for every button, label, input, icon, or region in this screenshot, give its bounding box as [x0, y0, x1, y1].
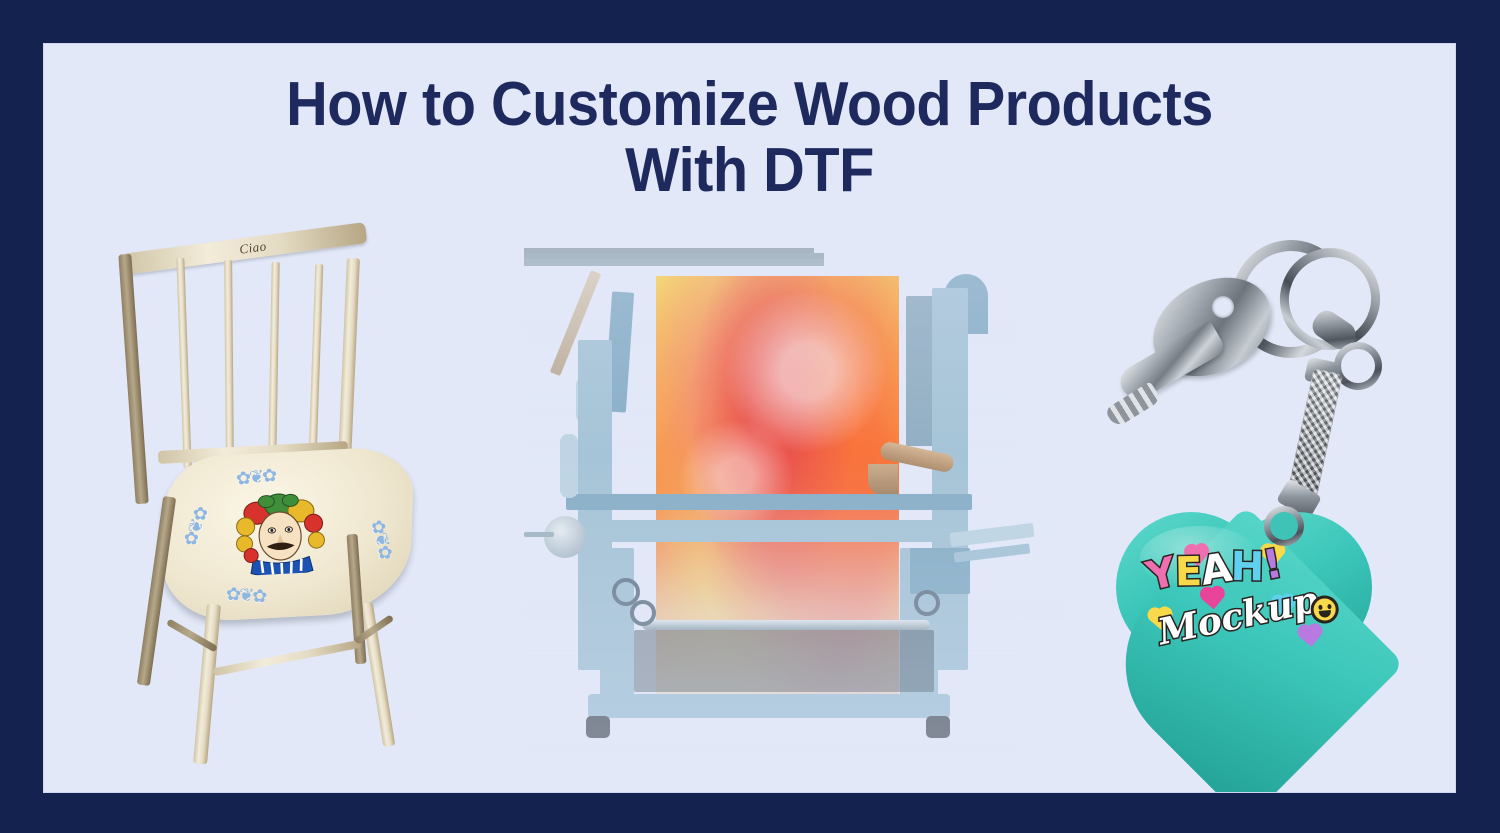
title-line-2: With DTF — [93, 138, 1405, 204]
heart-keychain-image: YEAH! Mockup — [1084, 234, 1444, 754]
mini-heart-icon — [1300, 626, 1321, 647]
imagery-row: Ciao ✿❦✿ ✿❦✿ ✿❦✿ ✿❦✿ — [44, 224, 1455, 784]
press-base — [588, 694, 950, 718]
press-drive-shaft — [524, 532, 554, 537]
heart-tag-artwork: YEAH! Mockup — [1145, 538, 1355, 673]
chair-leg-front-left — [193, 604, 221, 765]
press-leg-left — [600, 548, 634, 708]
press-bed-lower — [584, 520, 962, 542]
press-copper-elbow — [868, 464, 898, 496]
chair-spindle — [268, 262, 279, 458]
chair-back-post-left — [118, 254, 148, 504]
headline-letter-h: H — [1231, 546, 1264, 589]
printing-press-image — [524, 248, 1064, 758]
press-foot-right — [926, 716, 950, 738]
page-title: How to Customize Wood Products With DTF — [44, 72, 1455, 204]
press-tie-bar-low — [524, 259, 824, 266]
chair-spindle — [309, 264, 324, 454]
press-handwheel — [630, 600, 656, 626]
headline-letter-a: A — [1198, 547, 1234, 593]
headline-letter-e: E — [1175, 551, 1202, 593]
heart-shaped-tag: YEAH! Mockup — [1110, 506, 1382, 754]
press-lever — [560, 434, 578, 498]
press-bed-upper — [566, 494, 972, 510]
chair-stretcher — [213, 640, 362, 676]
key-hole — [1212, 296, 1234, 318]
chair-rail-text: Ciao — [178, 230, 329, 265]
banner-inner-panel: How to Customize Wood Products With DTF … — [43, 43, 1456, 793]
press-flywheel — [544, 516, 586, 558]
press-roller — [642, 620, 930, 630]
banner-frame: How to Customize Wood Products With DTF … — [0, 0, 1500, 833]
braided-metal-strap — [1287, 368, 1343, 499]
heart-tag-eyelet — [1264, 506, 1304, 546]
chair-seat-flourish-top: ✿❦✿ — [235, 466, 276, 488]
chair-seat-flourish-bottom: ✿❦✿ — [225, 585, 265, 606]
press-handwheel — [914, 590, 940, 616]
chair-spindle — [176, 258, 191, 468]
title-line-1: How to Customize Wood Products — [93, 72, 1405, 138]
painted-wooden-chair-image: Ciao ✿❦✿ ✿❦✿ ✿❦✿ ✿❦✿ — [104, 234, 444, 779]
chair-spindle — [224, 260, 234, 463]
moor-head-motif — [230, 490, 330, 577]
press-foot-left — [586, 716, 610, 738]
press-inner-cavity — [634, 630, 934, 692]
